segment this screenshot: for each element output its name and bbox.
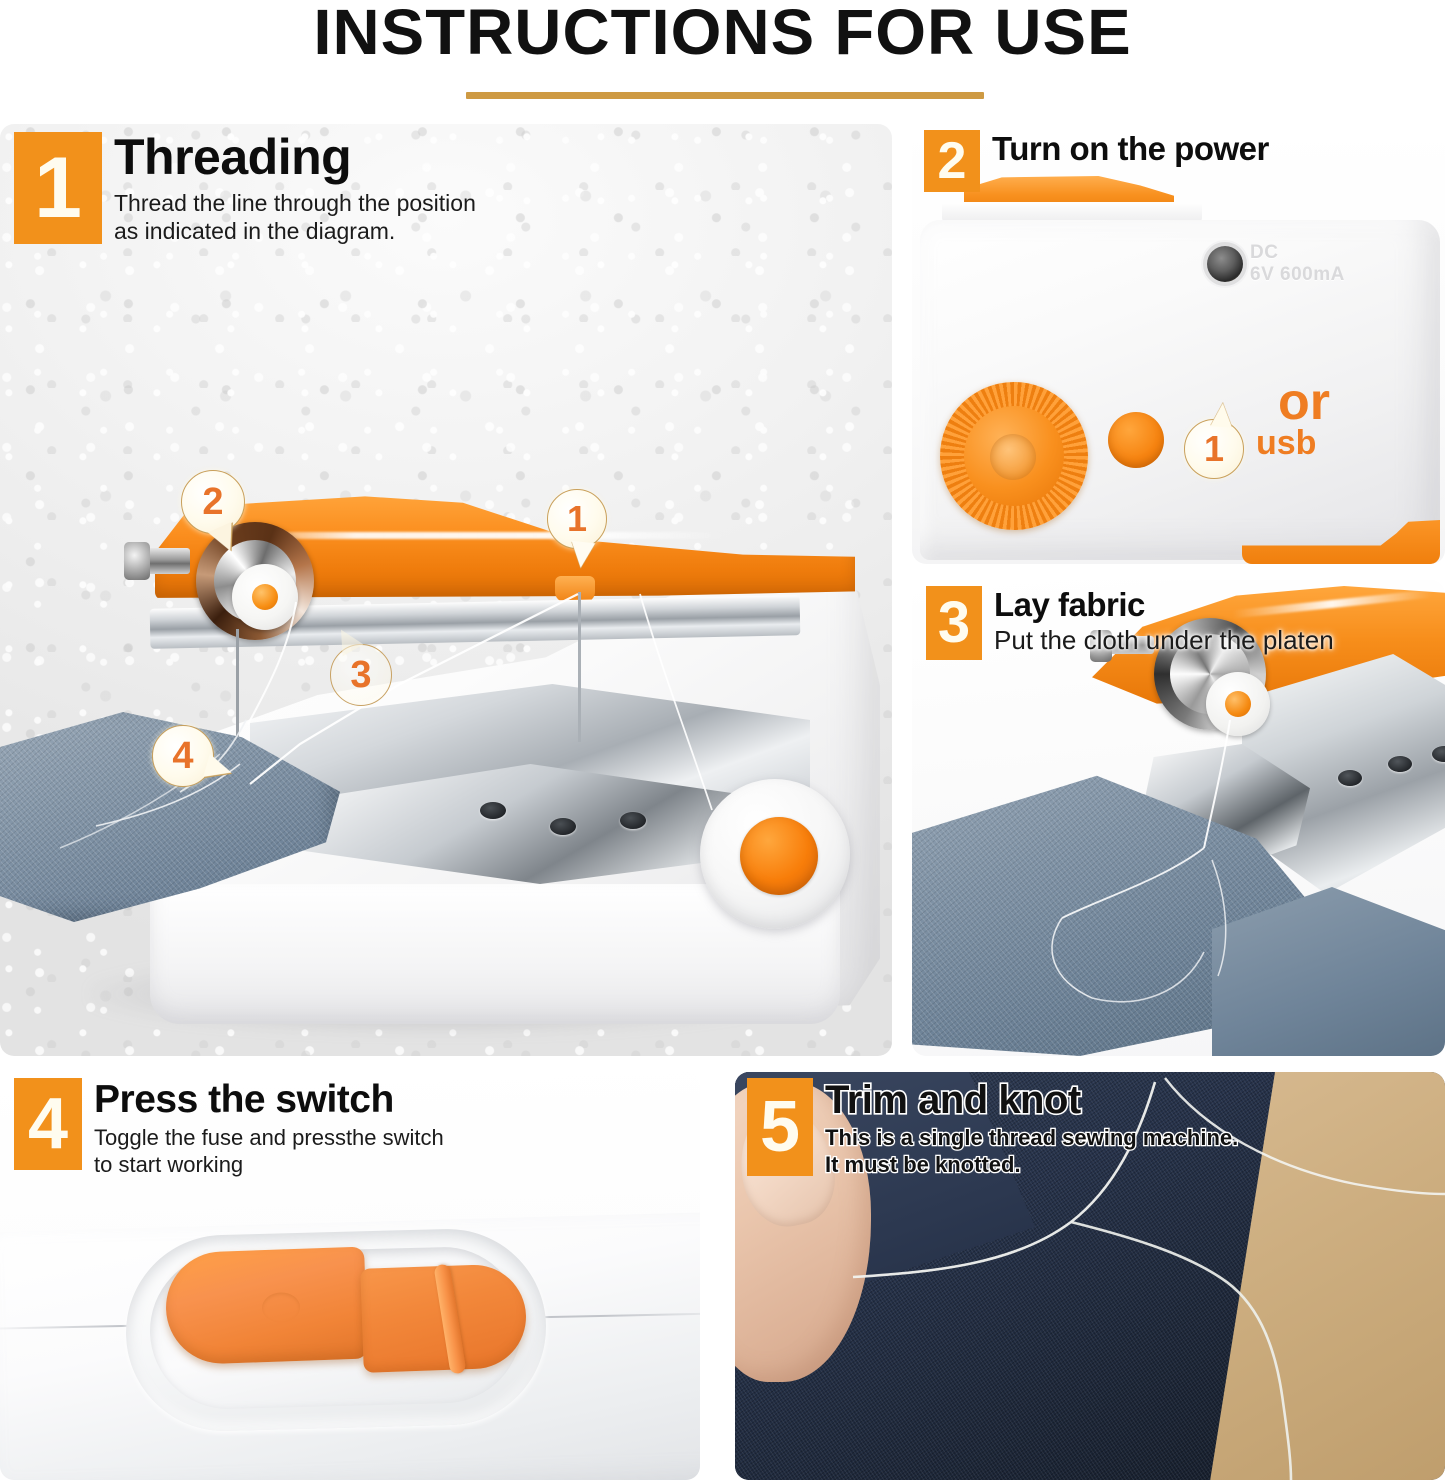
step-5-subtitle-line-2: It must be knotted. <box>825 1152 1238 1179</box>
speed-dial-center-knob <box>740 817 818 895</box>
orange-thumb-wheel-center <box>990 434 1036 480</box>
step-4-subtitle-line-1: Toggle the fuse and pressthe switch <box>94 1125 444 1152</box>
dc-rating-label: DC 6V 600mA <box>1250 242 1345 286</box>
or-conjunction-label: or <box>1278 376 1330 428</box>
device-top-white-piece <box>942 202 1202 222</box>
power-callout-bubble-1: 1 <box>1184 419 1244 479</box>
callout-bubble-1: 1 <box>547 489 607 549</box>
usb-option-label: usb <box>1256 426 1316 460</box>
bubble-tail <box>1210 402 1234 427</box>
dc-rating-line-1: DC <box>1250 242 1345 264</box>
step-5-number-badge: 5 <box>747 1078 813 1176</box>
page-title: INSTRUCTIONS FOR USE <box>0 0 1445 68</box>
needle-bar-right <box>578 592 581 742</box>
step-3-heading-block: 3 Lay fabric Put the cloth under the pla… <box>926 586 1334 660</box>
step-5-panel-trim-and-knot: 5 Trim and knot This is a single thread … <box>735 1072 1445 1480</box>
step-1-panel-threading: 2 1 3 4 1 Threading Thread the line thro… <box>0 124 892 1056</box>
step-2-title: Turn on the power <box>992 130 1269 166</box>
step-5-subtitle-line-1: This is a single thread sewing machine. <box>825 1125 1238 1152</box>
power-callout-1-label: 1 <box>1204 428 1224 470</box>
bubble-tail <box>569 541 596 569</box>
step-3-panel-lay-fabric: 3 Lay fabric Put the cloth under the pla… <box>912 580 1445 1056</box>
step-2-text-block: Turn on the power <box>980 130 1269 166</box>
instruction-sheet: INSTRUCTIONS FOR USE <box>0 0 1445 1480</box>
callout-bubble-4: 4 <box>152 725 214 787</box>
step-3-number-badge: 3 <box>926 586 982 660</box>
step-1-subtitle-line-2: as indicated in the diagram. <box>114 217 476 245</box>
dc-power-jack <box>1207 246 1243 282</box>
thread-guide-nub <box>555 576 595 602</box>
step-1-number-badge: 1 <box>14 132 102 244</box>
step-2-number-badge: 2 <box>924 130 980 192</box>
plate-hole <box>480 802 506 819</box>
orange-power-button <box>1108 412 1164 468</box>
thread-tension-knob-center <box>1225 691 1251 717</box>
orange-fuse-toggle <box>164 1247 368 1366</box>
thread-tension-knob-center <box>252 584 278 610</box>
step-2-heading-block: 2 Turn on the power <box>924 130 1269 192</box>
callout-bubble-4-label: 4 <box>172 735 193 778</box>
callout-bubble-2: 2 <box>181 470 245 534</box>
step-1-heading-block: 1 Threading Thread the line through the … <box>14 132 476 245</box>
step-3-text-block: Lay fabric Put the cloth under the plate… <box>982 586 1334 656</box>
step-4-panel-press-switch: 4 Press the switch Toggle the fuse and p… <box>0 1072 700 1480</box>
step-4-text-block: Press the switch Toggle the fuse and pre… <box>82 1078 444 1178</box>
title-underline-rule <box>466 92 984 99</box>
step-3-title: Lay fabric <box>994 586 1334 622</box>
step-4-number-badge: 4 <box>14 1078 82 1170</box>
plate-hole <box>620 812 646 829</box>
step-5-text-block: Trim and knot This is a single thread se… <box>813 1078 1238 1178</box>
plate-hole <box>550 818 576 835</box>
page-header: INSTRUCTIONS FOR USE <box>0 0 1445 120</box>
tension-screw-head <box>124 542 150 580</box>
step-4-title: Press the switch <box>94 1078 444 1120</box>
step-3-subtitle-line-1: Put the cloth under the platen <box>994 625 1334 657</box>
step-5-title: Trim and knot <box>825 1078 1238 1121</box>
bed-hole <box>1432 746 1445 762</box>
step-4-heading-block: 4 Press the switch Toggle the fuse and p… <box>14 1078 444 1178</box>
callout-bubble-3-label: 3 <box>350 654 371 697</box>
bed-hole <box>1388 756 1412 772</box>
callout-bubble-3: 3 <box>330 644 392 706</box>
callout-bubble-2-label: 2 <box>202 481 223 524</box>
step-1-title: Threading <box>114 132 476 183</box>
step-1-text-block: Threading Thread the line through the po… <box>102 132 476 245</box>
dc-rating-line-2: 6V 600mA <box>1250 264 1345 286</box>
arm-highlight-thread-line <box>230 532 730 539</box>
bed-hole <box>1338 770 1362 786</box>
step-2-panel-power: DC 6V 600mA usb or AA battery 1 2 2 Turn… <box>912 124 1445 564</box>
step-5-heading-block: 5 Trim and knot This is a single thread … <box>747 1078 1238 1178</box>
callout-bubble-1-label: 1 <box>567 498 587 540</box>
step-1-subtitle-line-1: Thread the line through the position <box>114 189 476 217</box>
step-4-subtitle-line-2: to start working <box>94 1152 444 1179</box>
